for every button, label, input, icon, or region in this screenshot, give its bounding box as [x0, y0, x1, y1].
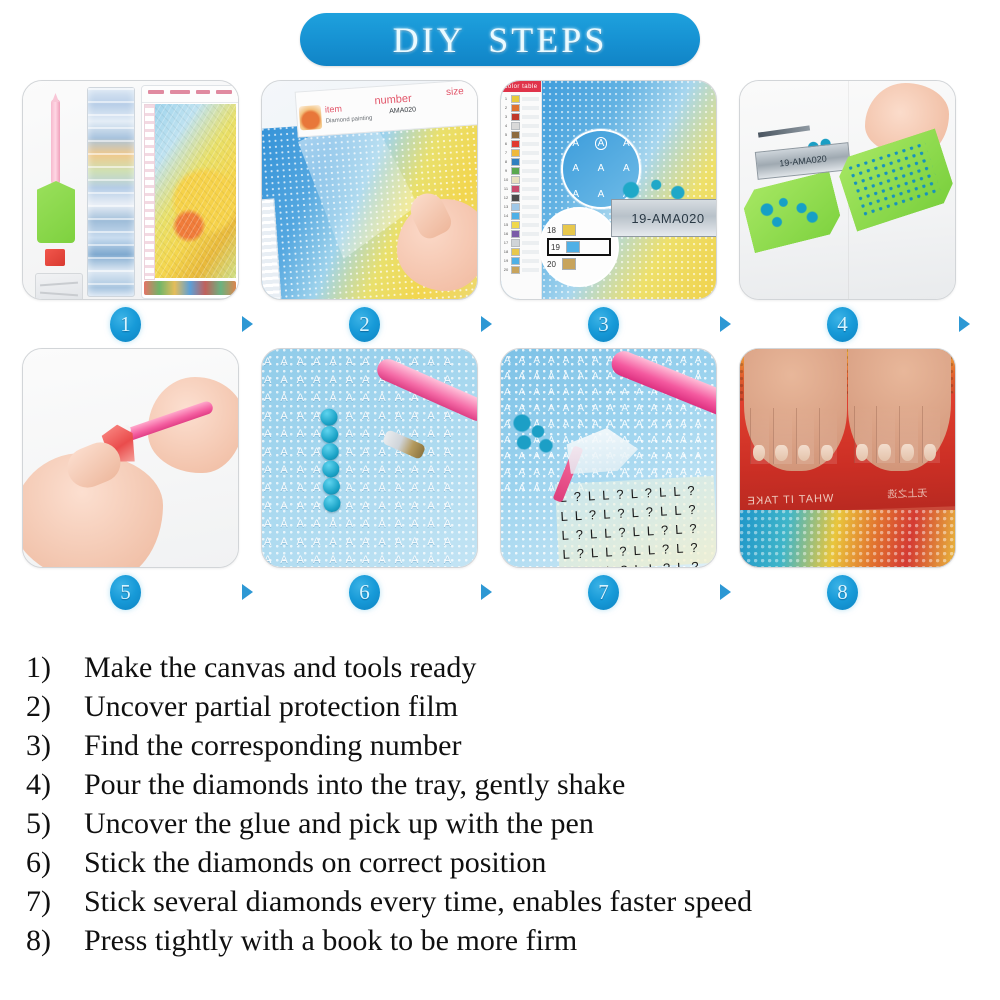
badge-cell: 3: [500, 307, 739, 342]
hand-left: [744, 348, 847, 471]
chevron-right-icon: [481, 584, 492, 600]
tray-icon: [37, 181, 75, 243]
scene-uncover-glue: [23, 349, 238, 567]
hand-right: [848, 348, 951, 471]
step-text: Stick several diamonds every time, enabl…: [84, 882, 752, 921]
step-line: 4) Pour the diamonds into the tray, gent…: [26, 765, 986, 804]
pen-icon: [51, 99, 60, 185]
step-text: Stick the diamonds on correct position: [84, 843, 546, 882]
badge-cell: 7: [500, 575, 739, 610]
step-text: Find the corresponding number: [84, 726, 461, 765]
chevron-right-icon: [481, 316, 492, 332]
canvas-symbols: AAAAAAAAAAAAAAAAAAAAAAAAAAAAAAAAAAAAAAAA…: [262, 349, 477, 567]
step-panel-2[interactable]: item number size Diamond painting AMA020: [261, 80, 478, 300]
diy-steps-infographic: DIY STEPS: [0, 0, 1000, 1000]
steps-list: 1) Make the canvas and tools ready 2) Un…: [26, 648, 986, 960]
magnifier-chart-rows: 18 19 20: [539, 207, 619, 287]
step-text: Make the canvas and tools ready: [84, 648, 476, 687]
step-panel-5[interactable]: [22, 348, 239, 568]
badge-row-top: 1 2 3 4: [0, 300, 1000, 348]
step-panel-6[interactable]: AAAAAAAAAAAAAAAAAAAAAAAAAAAAAAAAAAAAAAAA…: [261, 348, 478, 568]
panel-cell: [22, 80, 261, 300]
step-marker: 8): [26, 921, 84, 960]
panel-cell: AAAAAAAAAAAAAAAAAAAAAAAAAAAAAAAAAAAAAAAA…: [500, 348, 739, 568]
step-badge-4[interactable]: 4: [827, 307, 858, 342]
chart-row-18: 18: [547, 224, 611, 236]
chart-title: color table: [501, 81, 541, 92]
diamond-packets: [87, 87, 135, 297]
canvas-preview: [141, 85, 239, 299]
panel-cell: AAAAAAAAAAAAAAAAAAAAAAAAAAAAAAAAAAAAAAAA…: [261, 348, 500, 568]
badge-cell: 5: [22, 575, 261, 610]
step-line: 6) Stick the diamonds on correct positio…: [26, 843, 986, 882]
chart-row-19-selected: 19: [547, 238, 611, 256]
book-title-cjk: 无上之选: [888, 485, 928, 501]
label-size: size: [446, 86, 465, 98]
badge-cell: 4: [739, 307, 978, 342]
scene-press-with-book: WHAT IT TAKE 无上之选: [740, 349, 955, 567]
symbol-a: A: [572, 138, 579, 149]
step-panel-7[interactable]: AAAAAAAAAAAAAAAAAAAAAAAAAAAAAAAAAAAAAAAA…: [500, 348, 717, 568]
placed-diamonds: [509, 413, 559, 455]
step-line: 3) Find the corresponding number: [26, 726, 986, 765]
scene-tools-and-canvas: [23, 81, 238, 299]
chevron-right-icon: [959, 316, 970, 332]
panel-row-top: item number size Diamond painting AMA020: [0, 80, 1000, 300]
chevron-right-icon: [242, 584, 253, 600]
badge-cell: 8: [739, 575, 978, 610]
step-text: Press tightly with a book to be more fir…: [84, 921, 577, 960]
step-marker: 7): [26, 882, 84, 921]
step-line: 2) Uncover partial protection film: [26, 687, 986, 726]
header: DIY STEPS: [0, 0, 1000, 66]
step-badge-8[interactable]: 8: [827, 575, 858, 610]
label-item: item: [325, 104, 343, 115]
step-marker: 3): [26, 726, 84, 765]
symbol-a: A: [598, 189, 605, 200]
panel-cell: WHAT IT TAKE 无上之选: [739, 348, 978, 568]
canvas-symbols-l-q: L?LL?L?LL?LL?L?L?LL?L?LL?LL?L?L?LL?LL?L?…: [555, 476, 717, 568]
chevron-right-icon: [720, 584, 731, 600]
step-text: Uncover partial protection film: [84, 687, 458, 726]
step-panel-4[interactable]: 19-AMA020: [739, 80, 956, 300]
color-chart: color table 1 2 3 4 5 6 7 8 9 10 11: [501, 81, 542, 299]
step-line: 1) Make the canvas and tools ready: [26, 648, 986, 687]
title-pill: DIY STEPS: [300, 13, 700, 66]
step-marker: 6): [26, 843, 84, 882]
page-title: DIY STEPS: [393, 19, 608, 61]
step-panel-8[interactable]: WHAT IT TAKE 无上之选: [739, 348, 956, 568]
panel-cell: item number size Diamond painting AMA020: [261, 80, 500, 300]
diamond-bag-label: 19-AMA020: [611, 199, 717, 237]
chevron-right-icon: [242, 316, 253, 332]
label-product-name: Diamond painting: [326, 115, 373, 124]
symbol-a: A: [623, 163, 630, 174]
step-badge-7[interactable]: 7: [588, 575, 619, 610]
badge-cell: 1: [22, 307, 261, 342]
badge-cell: 6: [261, 575, 500, 610]
scene-pour-into-tray: 19-AMA020: [740, 81, 955, 299]
panel-row-bottom: AAAAAAAAAAAAAAAAAAAAAAAAAAAAAAAAAAAAAAAA…: [0, 348, 1000, 568]
scene-stick-one-diamond: AAAAAAAAAAAAAAAAAAAAAAAAAAAAAAAAAAAAAAAA…: [262, 349, 477, 567]
badge-cell: 2: [261, 307, 500, 342]
label-number: number: [374, 93, 412, 108]
step-text: Uncover the glue and pick up with the pe…: [84, 804, 594, 843]
symbol-a: A: [598, 163, 605, 174]
tweezers-icon: [35, 273, 83, 300]
step-line: 7) Stick several diamonds every time, en…: [26, 882, 986, 921]
panel-cell: 19-AMA020: [739, 80, 978, 300]
step-line: 8) Press tightly with a book to be more …: [26, 921, 986, 960]
chart-row-20: 20: [547, 258, 611, 270]
panel-cell: [22, 348, 261, 568]
step-badge-6[interactable]: 6: [349, 575, 380, 610]
symbol-a: A: [623, 138, 630, 149]
step-badge-3[interactable]: 3: [588, 307, 619, 342]
step-badge-1[interactable]: 1: [110, 307, 141, 342]
steps-grid: item number size Diamond painting AMA020: [0, 80, 1000, 616]
step-badge-5[interactable]: 5: [110, 575, 141, 610]
chevron-right-icon: [720, 316, 731, 332]
step-marker: 4): [26, 765, 84, 804]
symbol-a: A: [572, 163, 579, 174]
wax-icon: [45, 249, 65, 266]
scene-find-number: color table 1 2 3 4 5 6 7 8 9 10 11: [501, 81, 716, 299]
step-badge-2[interactable]: 2: [349, 307, 380, 342]
badge-row-bottom: 5 6 7 8: [0, 568, 1000, 616]
step-text: Pour the diamonds into the tray, gently …: [84, 765, 625, 804]
book-title-latin: WHAT IT TAKE: [747, 492, 834, 507]
step-line: 5) Uncover the glue and pick up with the…: [26, 804, 986, 843]
panel-cell: color table 1 2 3 4 5 6 7 8 9 10 11: [500, 80, 739, 300]
step-marker: 5): [26, 804, 84, 843]
finished-painting: [740, 510, 955, 567]
step-marker: 2): [26, 687, 84, 726]
step-panel-3[interactable]: color table 1 2 3 4 5 6 7 8 9 10 11: [500, 80, 717, 300]
scene-peel-film: item number size Diamond painting AMA020: [262, 81, 477, 299]
step-marker: 1): [26, 648, 84, 687]
step-panel-1[interactable]: [22, 80, 239, 300]
scene-multi-placer: AAAAAAAAAAAAAAAAAAAAAAAAAAAAAAAAAAAAAAAA…: [501, 349, 716, 567]
symbol-a-highlight: A: [596, 138, 607, 149]
label-product-code: AMA020: [389, 106, 416, 115]
symbol-a: A: [572, 189, 579, 200]
